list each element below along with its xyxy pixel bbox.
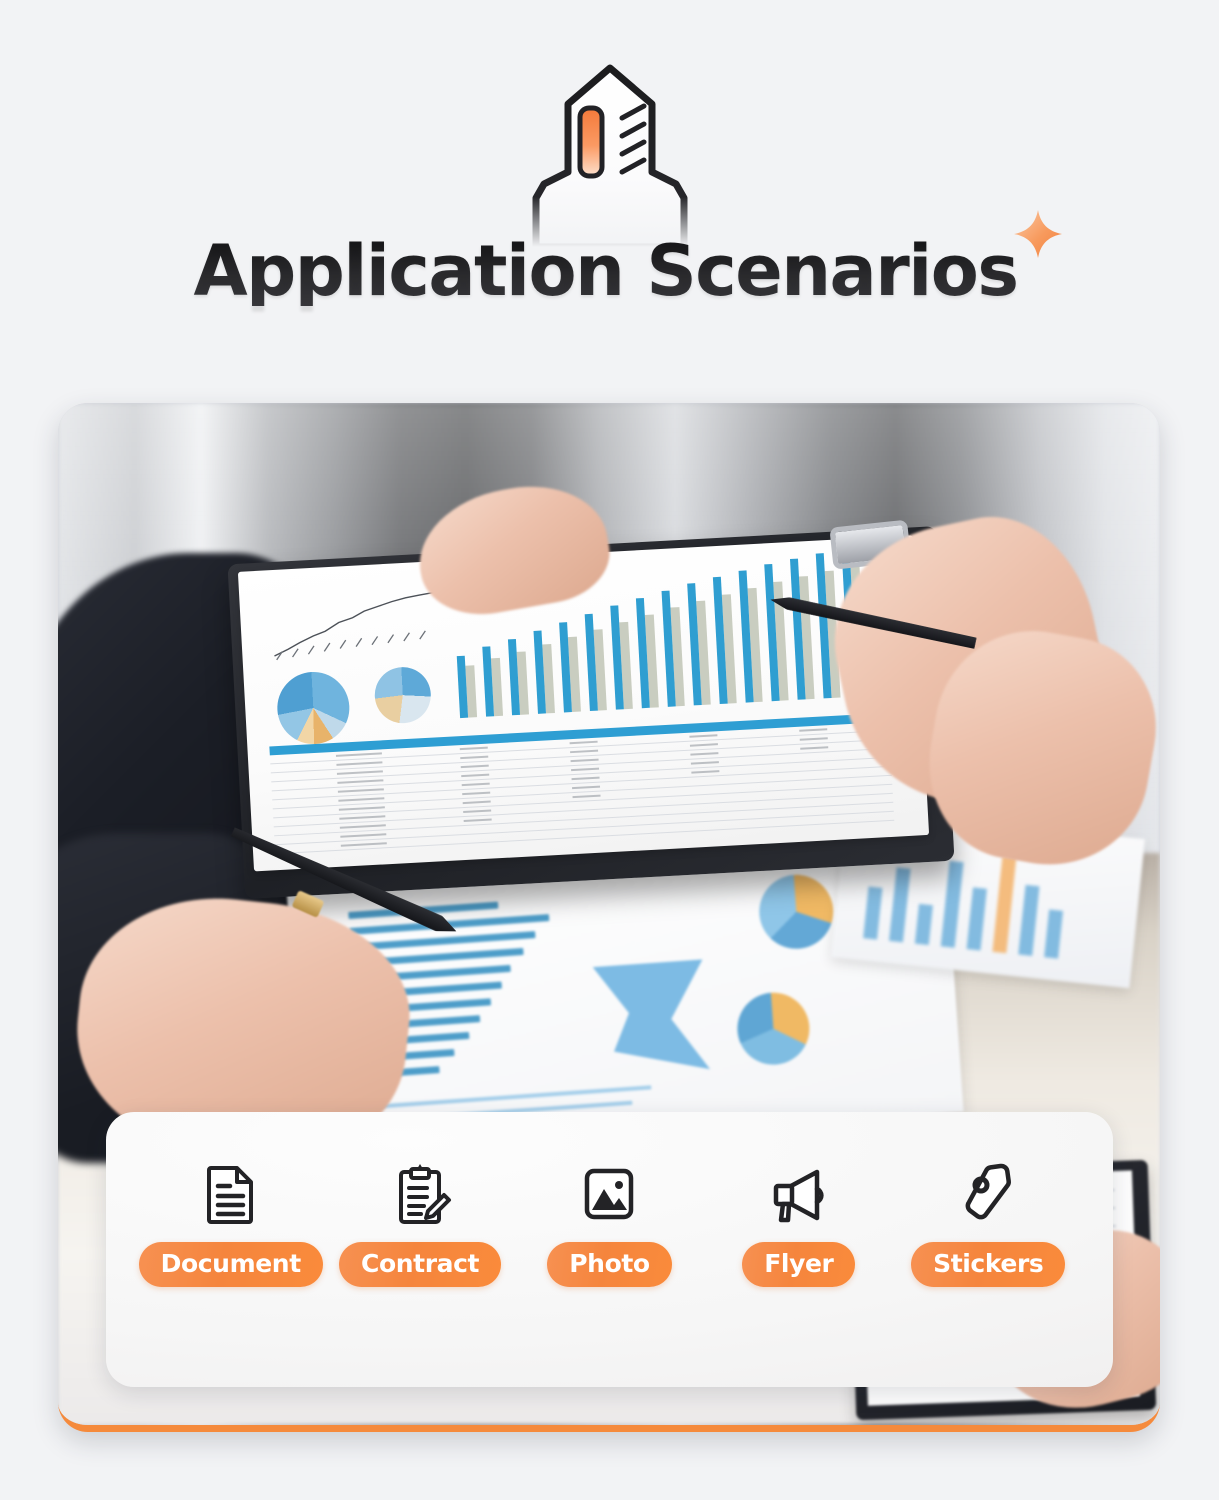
report-pie-chart-1 <box>275 670 351 746</box>
building-skyscraper-icon <box>500 62 720 247</box>
title-wrap: Application Scenarios <box>193 236 1025 306</box>
price-tag-icon <box>956 1162 1020 1226</box>
use-case-label-stickers[interactable]: Stickers <box>911 1242 1065 1287</box>
use-case-card: Document Contract <box>106 1112 1113 1387</box>
use-case-photo[interactable]: Photo <box>519 1162 699 1287</box>
page-title: Application Scenarios <box>193 236 1017 306</box>
use-case-stickers[interactable]: Stickers <box>898 1162 1078 1287</box>
sparkle-icon <box>1012 208 1064 260</box>
title-row: Application Scenarios <box>0 236 1219 306</box>
use-case-list: Document Contract <box>136 1162 1083 1287</box>
image-icon <box>577 1162 641 1226</box>
report-pie-chart-2 <box>373 666 432 725</box>
document-icon <box>199 1162 263 1226</box>
clipboard-pen-icon <box>388 1162 452 1226</box>
megaphone-icon <box>767 1162 831 1226</box>
use-case-label-photo[interactable]: Photo <box>547 1242 671 1287</box>
use-case-contract[interactable]: Contract <box>330 1162 510 1287</box>
use-case-label-flyer[interactable]: Flyer <box>742 1242 855 1287</box>
application-scenarios-page: Application Scenarios <box>0 0 1219 1500</box>
use-case-label-contract[interactable]: Contract <box>339 1242 501 1287</box>
use-case-document[interactable]: Document <box>141 1162 321 1287</box>
report-data-table <box>269 713 894 858</box>
header-section: Application Scenarios <box>0 0 1219 400</box>
use-case-flyer[interactable]: Flyer <box>709 1162 889 1287</box>
use-case-label-document[interactable]: Document <box>139 1242 323 1287</box>
